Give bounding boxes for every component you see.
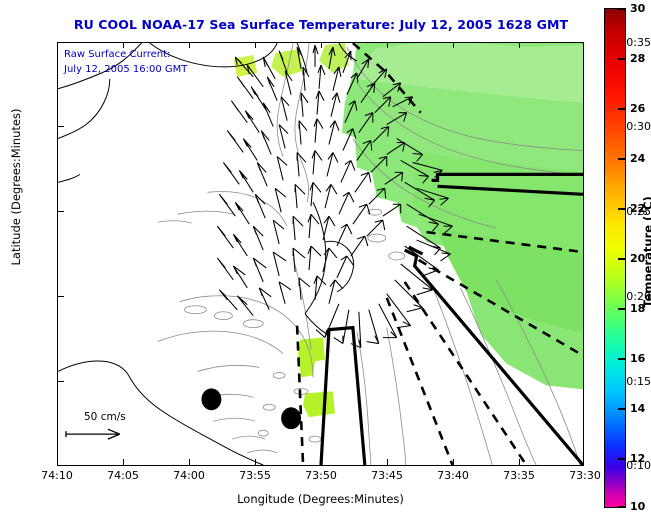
x-axis-title: Longitude (Degrees:Minutes) bbox=[57, 492, 584, 506]
sst-map-figure: RU COOL NOAA-17 Sea Surface Temperature:… bbox=[0, 0, 651, 518]
colorbar-tick-label: 10 bbox=[630, 500, 651, 513]
colorbar-tick-mark bbox=[618, 158, 626, 160]
sst-patch-inner-2 bbox=[303, 391, 335, 417]
x-tick-mark bbox=[519, 459, 520, 466]
x-tick-label: 74:10 bbox=[27, 469, 87, 482]
colorbar-tick-mark bbox=[618, 258, 626, 260]
x-tick-mark bbox=[57, 459, 58, 466]
figure-title: RU COOL NOAA-17 Sea Surface Temperature:… bbox=[57, 17, 585, 32]
x-tick-label: 73:55 bbox=[225, 469, 285, 482]
scale-bar-label: 50 cm/s bbox=[84, 411, 126, 423]
map-canvas bbox=[58, 43, 583, 465]
x-tick-mark bbox=[321, 459, 322, 466]
x-tick-mark-top bbox=[321, 42, 322, 48]
colorbar-tick-mark bbox=[618, 108, 626, 110]
x-tick-mark-top bbox=[189, 42, 190, 48]
station-markers bbox=[201, 388, 301, 429]
x-tick-label: 73:35 bbox=[489, 469, 549, 482]
colorbar-tick-mark bbox=[618, 8, 626, 10]
x-tick-mark bbox=[453, 459, 454, 466]
x-tick-mark-top bbox=[123, 42, 124, 48]
x-tick-mark-top bbox=[387, 42, 388, 48]
colorbar-tick-mark bbox=[618, 506, 626, 508]
colorbar-tick-label: 28 bbox=[630, 52, 651, 65]
colorbar-tick-mark bbox=[618, 208, 626, 210]
colorbar-tick-mark bbox=[618, 58, 626, 60]
x-tick-mark-top bbox=[519, 42, 520, 48]
station-marker-1 bbox=[201, 388, 221, 410]
y-tick-mark bbox=[57, 296, 64, 297]
scale-bar-arrow bbox=[66, 429, 120, 439]
colorbar-tick-mark bbox=[618, 358, 626, 360]
colorbar-tick-label: 24 bbox=[630, 152, 651, 165]
x-tick-label: 74:05 bbox=[93, 469, 153, 482]
colorbar-tick-mark bbox=[618, 458, 626, 460]
colorbar-tick-mark bbox=[618, 408, 626, 410]
sst-patch-inner-1 bbox=[298, 338, 325, 378]
x-tick-label: 73:40 bbox=[423, 469, 483, 482]
x-tick-mark-top bbox=[255, 42, 256, 48]
x-tick-mark bbox=[255, 459, 256, 466]
y-tick-mark bbox=[57, 126, 64, 127]
x-tick-mark-top bbox=[453, 42, 454, 48]
x-tick-mark bbox=[387, 459, 388, 466]
colorbar-tick-label: 26 bbox=[630, 102, 651, 115]
x-tick-label: 73:50 bbox=[291, 469, 351, 482]
colorbar-tick-label: 30 bbox=[630, 2, 651, 15]
x-tick-mark bbox=[123, 459, 124, 466]
x-tick-label: 74:00 bbox=[159, 469, 219, 482]
y-tick-mark bbox=[57, 211, 64, 212]
y-axis-title: Latitude (Degrees:Minutes) bbox=[9, 77, 23, 297]
colorbar-tick-mark bbox=[618, 308, 626, 310]
station-marker-2 bbox=[281, 407, 301, 429]
x-tick-mark-top bbox=[57, 42, 58, 48]
x-tick-label: 73:45 bbox=[357, 469, 417, 482]
colorbar-tick-label: 16 bbox=[630, 352, 651, 365]
map-plot-area: Raw Surface Current: July 12, 2005 16:00… bbox=[57, 42, 584, 466]
x-tick-mark bbox=[189, 459, 190, 466]
colorbar-tick-label: 12 bbox=[630, 452, 651, 465]
colorbar-title: Temperature (°C) bbox=[641, 177, 651, 327]
y-tick-mark bbox=[57, 381, 64, 382]
colorbar-tick-label: 14 bbox=[630, 402, 651, 415]
